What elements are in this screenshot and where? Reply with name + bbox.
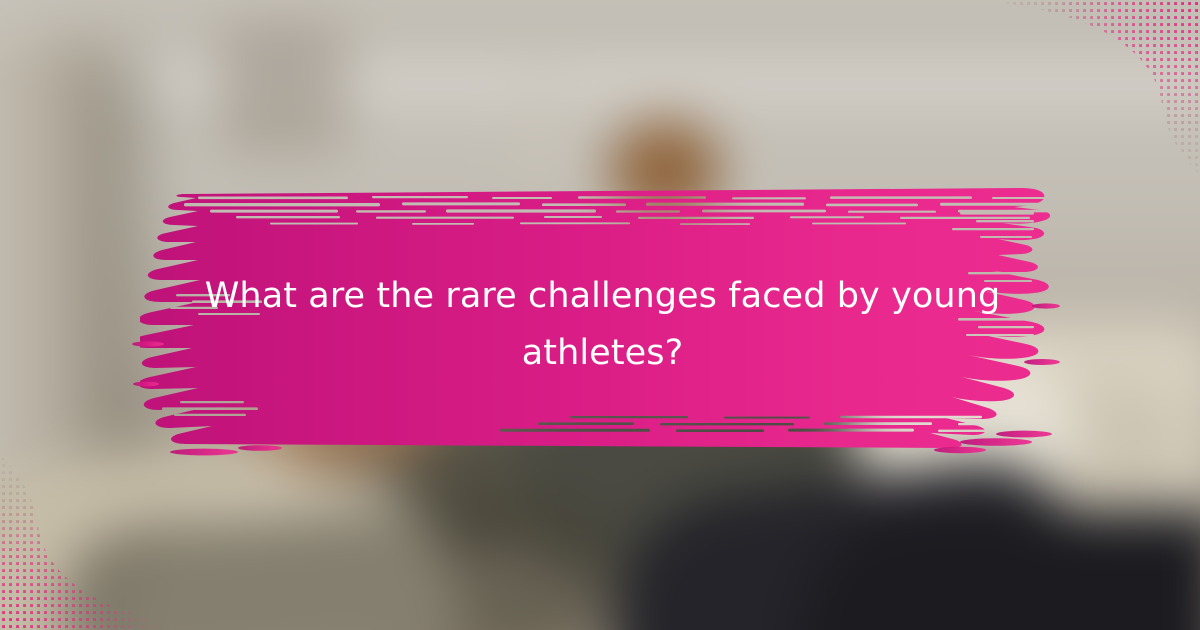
wall-moulding-upper [40, 16, 1200, 30]
person-trousers-lower [800, 510, 1200, 630]
page-title: What are the rare challenges faced by yo… [175, 268, 1030, 382]
poster-canvas: What are the rare challenges faced by yo… [0, 0, 1200, 630]
background-pole [530, 70, 552, 180]
wall-picture-frame [220, 25, 345, 153]
wall-moulding-lower [40, 70, 1200, 96]
